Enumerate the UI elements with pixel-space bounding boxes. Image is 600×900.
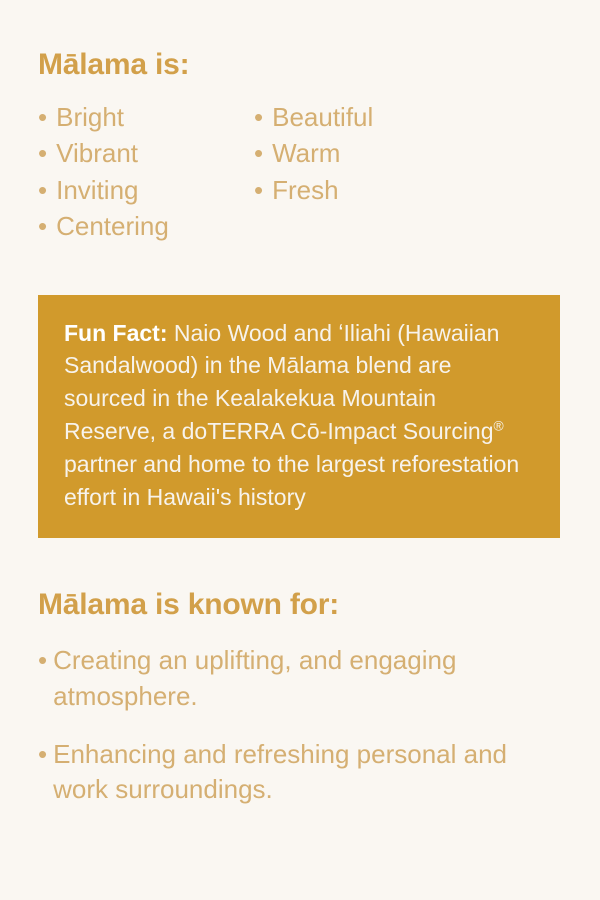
bullet-icon: • bbox=[38, 737, 47, 773]
bullet-icon: • bbox=[38, 99, 47, 135]
list-item-label: Centering bbox=[56, 208, 169, 244]
bullet-icon: • bbox=[254, 135, 263, 171]
bullet-icon: • bbox=[38, 172, 47, 208]
list-item: • Enhancing and refreshing personal and … bbox=[38, 737, 562, 809]
bullet-icon: • bbox=[38, 643, 47, 679]
list-item-label: Inviting bbox=[56, 172, 138, 208]
bullet-icon: • bbox=[254, 99, 263, 135]
list-item-label: Warm bbox=[272, 135, 340, 171]
page-title-known-for: Mālama is known for: bbox=[38, 588, 562, 621]
list-item-label: Beautiful bbox=[272, 99, 373, 135]
list-item: • Bright bbox=[38, 99, 254, 135]
list-item: • Centering bbox=[38, 208, 254, 244]
attributes-two-column-list: • Bright • Vibrant • Inviting • Centerin… bbox=[38, 99, 562, 245]
list-item: • Beautiful bbox=[254, 99, 562, 135]
known-for-section: Mālama is known for: • Creating an uplif… bbox=[38, 588, 562, 809]
bullet-icon: • bbox=[38, 208, 47, 244]
list-item: • Creating an uplifting, and engaging at… bbox=[38, 643, 562, 715]
bullet-icon: • bbox=[254, 172, 263, 208]
bullet-icon: • bbox=[38, 135, 47, 171]
list-item-label: Creating an uplifting, and engaging atmo… bbox=[53, 643, 562, 715]
fun-fact-body-part-2: partner and home to the largest reforest… bbox=[64, 451, 519, 510]
fun-fact-text: Fun Fact: Naio Wood and ʻIliahi (Hawaiia… bbox=[64, 317, 534, 514]
list-item: • Inviting bbox=[38, 172, 254, 208]
page-container: Mālama is: • Bright • Vibrant • Inviting… bbox=[0, 0, 600, 900]
fun-fact-callout: Fun Fact: Naio Wood and ʻIliahi (Hawaiia… bbox=[38, 295, 560, 538]
fun-fact-label: Fun Fact: bbox=[64, 320, 168, 346]
list-item: • Fresh bbox=[254, 172, 562, 208]
list-item: • Warm bbox=[254, 135, 562, 171]
list-item-label: Fresh bbox=[272, 172, 338, 208]
attributes-column-right: • Beautiful • Warm • Fresh bbox=[254, 99, 562, 245]
list-item-label: Enhancing and refreshing personal and wo… bbox=[53, 737, 562, 809]
known-for-list: • Creating an uplifting, and engaging at… bbox=[38, 643, 562, 809]
attributes-column-left: • Bright • Vibrant • Inviting • Centerin… bbox=[38, 99, 254, 245]
list-item-label: Vibrant bbox=[56, 135, 138, 171]
registered-trademark-icon: ® bbox=[494, 419, 504, 434]
list-item-label: Bright bbox=[56, 99, 124, 135]
list-item: • Vibrant bbox=[38, 135, 254, 171]
page-title-attributes: Mālama is: bbox=[38, 0, 562, 81]
